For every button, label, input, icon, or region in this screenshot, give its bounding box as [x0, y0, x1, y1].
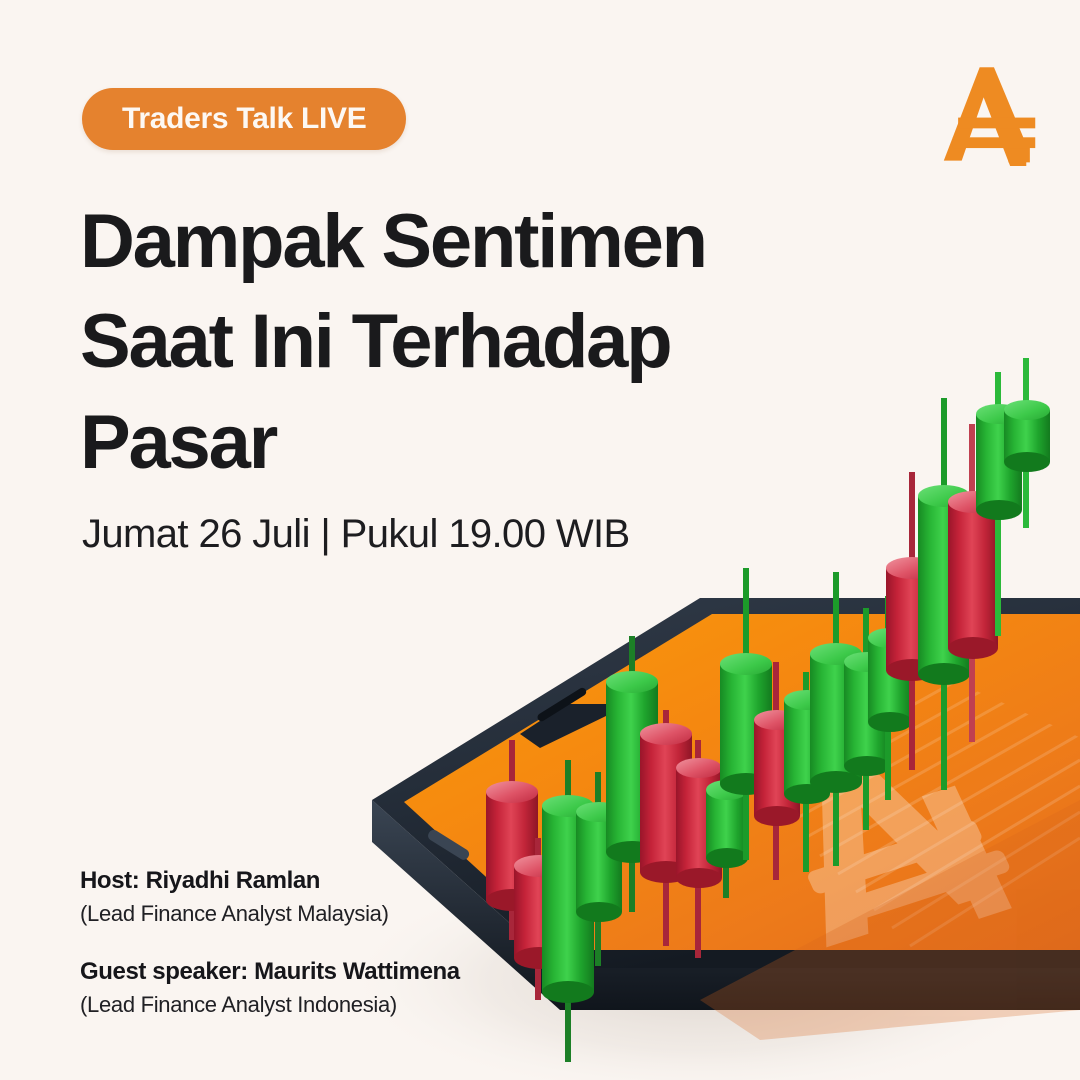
arkbit-a-logo-icon — [940, 62, 1048, 166]
candle-bear-4 — [676, 740, 722, 958]
guest-credit: Guest speaker: Maurits Wattimena (Lead F… — [80, 957, 550, 1020]
candle-bull-11 — [976, 372, 1022, 636]
live-badge[interactable]: Traders Talk LIVE — [82, 88, 406, 150]
candle-bear-3 — [640, 710, 692, 946]
guest-role: (Lead Finance Analyst Indonesia) — [80, 990, 550, 1020]
brand-logo — [940, 62, 1048, 166]
candle-bull-6 — [784, 672, 830, 872]
speaker-credits: Host: Riyadhi Ramlan (Lead Finance Analy… — [80, 866, 550, 1019]
candle-bull-8 — [844, 608, 890, 830]
host-name: Host: Riyadhi Ramlan — [80, 866, 550, 896]
guest-name: Guest speaker: Maurits Wattimena — [80, 957, 550, 987]
candle-bear-7 — [948, 424, 998, 742]
candle-bear-5 — [754, 662, 800, 880]
screen-stripes — [760, 612, 1080, 946]
candle-bull-4 — [706, 756, 748, 898]
phone-notch — [520, 704, 612, 748]
candle-bull-9 — [868, 596, 912, 800]
candle-bull-12 — [1004, 358, 1050, 528]
phone-side-button — [426, 828, 471, 862]
headline-line-1: Dampak Sentimen — [80, 192, 820, 292]
live-badge-label: Traders Talk LIVE — [122, 102, 366, 136]
host-credit: Host: Riyadhi Ramlan (Lead Finance Analy… — [80, 866, 550, 929]
schedule-line: Jumat 26 Juli | Pukul 19.00 WIB — [82, 512, 630, 557]
host-role: (Lead Finance Analyst Malaysia) — [80, 899, 550, 929]
candle-bull-2 — [576, 772, 622, 966]
candle-bull-5 — [720, 568, 772, 860]
phone-earpiece — [536, 686, 588, 722]
screen-logo-watermark — [758, 739, 1026, 966]
promo-poster: Traders Talk LIVE Dampak Sentimen Saat I… — [0, 0, 1080, 1080]
candle-bull-7 — [810, 572, 862, 866]
candle-bull-3 — [606, 636, 658, 912]
headline-line-3: Pasar — [80, 393, 820, 493]
headline-line-2: Saat Ini Terhadap — [80, 292, 820, 392]
candle-bull-10 — [918, 398, 970, 790]
candle-bear-6 — [886, 472, 938, 770]
page-title: Dampak Sentimen Saat Ini Terhadap Pasar — [80, 192, 820, 493]
